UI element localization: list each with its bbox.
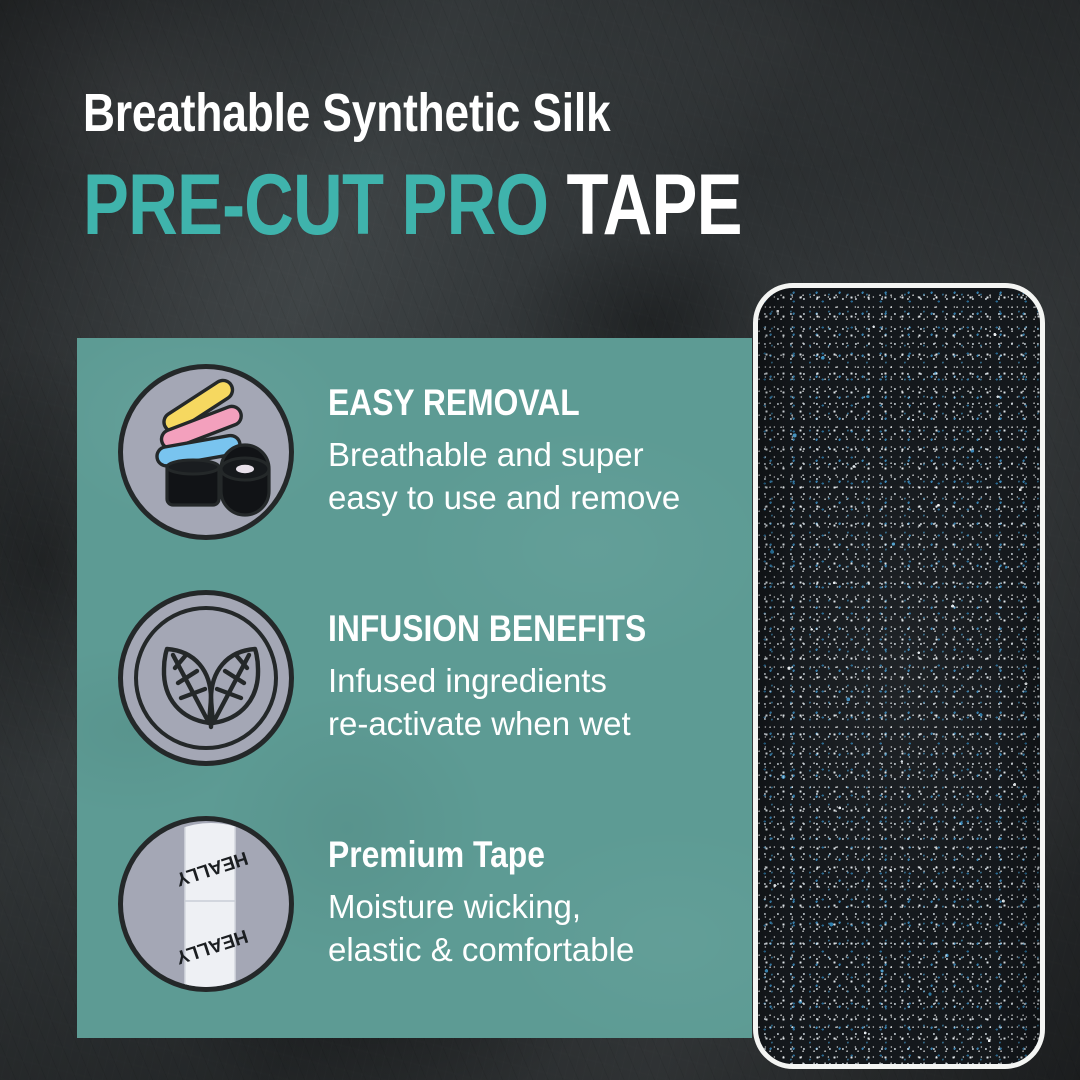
tape-rolls-glyph xyxy=(123,369,294,540)
icon-circle-3: HEALLY HEALLY xyxy=(118,816,294,992)
branded-tape-glyph: HEALLY HEALLY xyxy=(123,821,294,992)
leaves-icon xyxy=(118,590,294,766)
headline-white-text xyxy=(548,157,566,253)
feature-item-easy-removal: EASY REMOVAL Breathable and super easy t… xyxy=(118,364,738,564)
product-shading xyxy=(758,288,1040,1064)
headline-line-2: PRE-CUT PRO TAPE xyxy=(83,162,659,248)
feature-desc-1: Breathable and super easy to use and rem… xyxy=(328,434,680,519)
feature-item-infusion-benefits: INFUSION BENEFITS Infused ingredients re… xyxy=(118,590,738,790)
headline-block: Breathable Synthetic Silk PRE-CUT PRO TA… xyxy=(83,86,803,248)
headline-line-1: Breathable Synthetic Silk xyxy=(83,86,673,140)
feature-title-2: INFUSION BENEFITS xyxy=(328,610,646,647)
feature-text-1: EASY REMOVAL Breathable and super easy t… xyxy=(328,364,680,519)
headline-accent-text: PRE-CUT PRO xyxy=(83,157,548,253)
feature-desc-3: Moisture wicking, elastic & comfortable xyxy=(328,886,634,971)
feature-title-3: Premium Tape xyxy=(328,836,591,873)
feature-item-premium-tape: HEALLY HEALLY Premium Tape Moisture wick… xyxy=(118,816,738,1016)
icon-circle-1 xyxy=(118,364,294,540)
branded-tape-strip-icon: HEALLY HEALLY xyxy=(118,816,294,992)
feature-text-2: INFUSION BENEFITS Infused ingredients re… xyxy=(328,590,698,745)
feature-desc-2: Infused ingredients re-activate when wet xyxy=(328,660,698,745)
product-infographic: Breathable Synthetic Silk PRE-CUT PRO TA… xyxy=(0,0,1080,1080)
product-tape-image xyxy=(753,283,1045,1069)
feature-panel: EASY REMOVAL Breathable and super easy t… xyxy=(77,338,752,1038)
icon-inner-ring-2 xyxy=(134,606,278,750)
headline-tape-text: TAPE xyxy=(567,157,742,253)
tape-rolls-icon xyxy=(118,364,294,540)
icon-circle-2 xyxy=(118,590,294,766)
feature-text-3: Premium Tape Moisture wicking, elastic &… xyxy=(328,816,634,971)
feature-title-1: EASY REMOVAL xyxy=(328,384,631,421)
